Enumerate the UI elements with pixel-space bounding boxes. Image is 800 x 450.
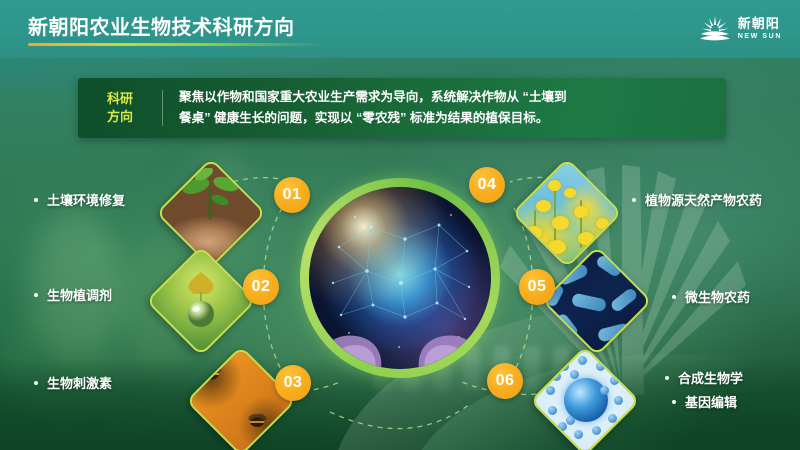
- bullet-dot-icon: [672, 295, 676, 299]
- header-bar: 新朝阳农业生物技术科研方向: [0, 0, 800, 58]
- badge-06: 06: [487, 363, 523, 399]
- banner-text-line1: 聚焦以作物和国家重大农业生产需求为导向，系统解决作物从 “土壤到: [179, 87, 567, 108]
- banner-tag-line2: 方向: [107, 108, 133, 126]
- bullet-dot-icon: [34, 381, 38, 385]
- center-globe: [300, 178, 500, 378]
- bullet-label: 土壤环境修复: [47, 190, 125, 209]
- bullet-label: 生物植调剂: [47, 285, 112, 304]
- bullet-dot-icon: [665, 376, 669, 380]
- bullet-label: 合成生物学: [678, 368, 743, 387]
- globe-image-frame: [309, 187, 491, 369]
- bullet-microbial-pesticide: 微生物农药: [672, 287, 750, 306]
- brand-logo: 新朝阳 NEW SUN: [699, 14, 782, 42]
- bullet-dot-icon: [34, 293, 38, 297]
- bullet-bio-regulator: 生物植调剂: [34, 285, 112, 304]
- bullet-gene-editing: 基因编辑: [672, 392, 737, 411]
- bullet-soil-remediation: 土壤环境修复: [34, 190, 125, 209]
- logo-text-cn: 新朝阳: [738, 17, 782, 30]
- bullet-dot-icon: [34, 198, 38, 202]
- logo-text-en: NEW SUN: [738, 33, 782, 40]
- bullet-label: 基因编辑: [685, 392, 737, 411]
- banner-tag: 科研 方向: [78, 90, 162, 125]
- title-underline-rule: [28, 43, 328, 46]
- bullet-label: 微生物农药: [685, 287, 750, 306]
- slide: 新朝阳农业生物技术科研方向: [0, 0, 800, 450]
- banner-text-line2: 餐桌” 健康生长的问题，实现以 “零农残” 标准为结果的植保目标。: [179, 108, 567, 129]
- bullet-label: 植物源天然产物农药: [645, 190, 762, 209]
- badge-03: 03: [275, 365, 311, 401]
- badge-01: 01: [274, 177, 310, 213]
- banner-tag-line1: 科研: [107, 90, 133, 108]
- bullet-dot-icon: [632, 198, 636, 202]
- bullet-synthetic-biology: 合成生物学: [665, 368, 743, 387]
- bullet-label: 生物刺激素: [47, 373, 112, 392]
- digital-globe-image: [309, 187, 491, 369]
- banner-body: 聚焦以作物和国家重大农业生产需求为导向，系统解决作物从 “土壤到 餐桌” 健康生…: [163, 87, 581, 129]
- badge-04: 04: [469, 167, 505, 203]
- sunrise-leaf-icon: [699, 14, 731, 42]
- bullet-biostimulant: 生物刺激素: [34, 373, 112, 392]
- page-title: 新朝阳农业生物技术科研方向: [28, 11, 295, 40]
- research-direction-banner: 科研 方向 聚焦以作物和国家重大农业生产需求为导向，系统解决作物从 “土壤到 餐…: [78, 78, 726, 138]
- bullet-botanical-pesticide: 植物源天然产物农药: [632, 190, 762, 209]
- badge-05: 05: [519, 269, 555, 305]
- bullet-dot-icon: [672, 400, 676, 404]
- badge-02: 02: [243, 269, 279, 305]
